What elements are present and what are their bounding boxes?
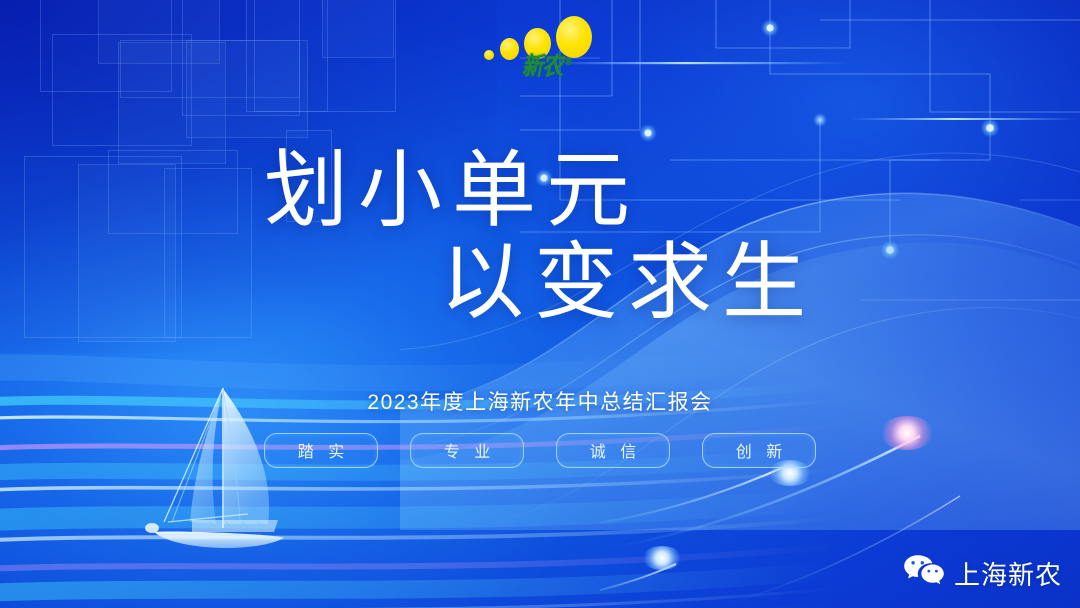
value-tag-3: 诚 信 <box>556 433 670 468</box>
value-tag-1: 踏 实 <box>264 433 378 468</box>
logo-trademark: ® <box>564 57 571 68</box>
logo-wordmark: 新农® <box>520 47 575 82</box>
wechat-account-name: 上海新农 <box>954 555 1062 592</box>
wechat-icon <box>903 553 945 594</box>
value-tag-2: 专 业 <box>410 433 524 468</box>
logo-dot-2 <box>500 38 519 60</box>
headline-line-1: 划小单元 <box>0 148 992 234</box>
value-tags: 踏 实 专 业 诚 信 创 新 <box>0 433 1080 468</box>
wechat-watermark: 上海新农 <box>903 553 1062 594</box>
logo-dot-1 <box>484 50 494 60</box>
logo-wordmark-text: 新农 <box>520 52 566 80</box>
value-tag-4: 创 新 <box>702 433 816 468</box>
headline-line-2: 以变求生 <box>88 240 1080 326</box>
subtitle: 2023年度上海新农年中总结汇报会 <box>0 386 1080 416</box>
poster-canvas: 新农® 划小单元 以变求生 2023年度上海新农年中总结汇报会 踏 实 专 业 … <box>0 0 1080 608</box>
brand-logo: 新农® <box>0 14 1080 100</box>
headline: 划小单元 以变求生 <box>0 148 1080 325</box>
